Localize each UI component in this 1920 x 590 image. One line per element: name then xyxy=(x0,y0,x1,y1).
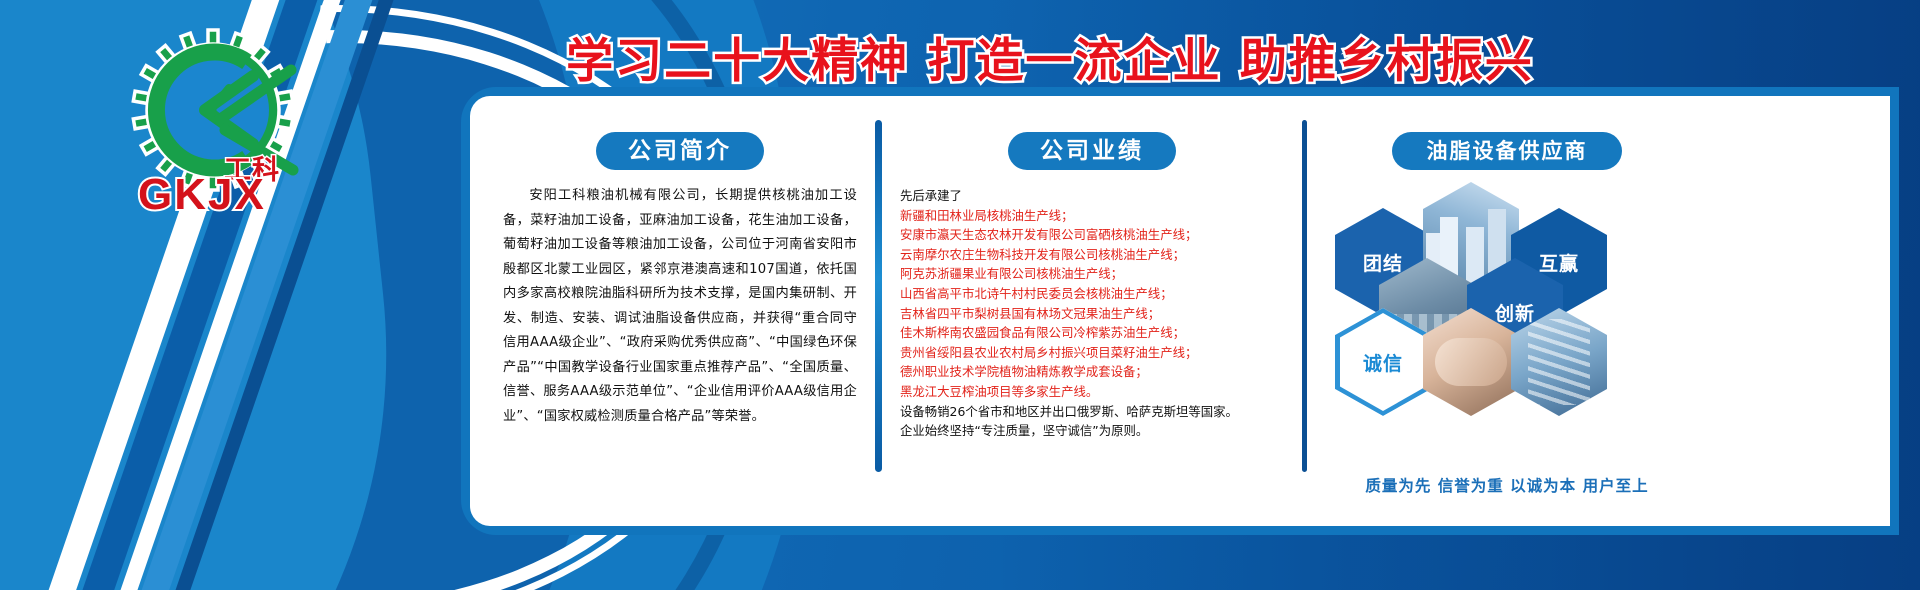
poster-canvas: 工科 GKJX 学习二十大精神 打造一流企业 助推乡村振兴 公司简介 安阳工科粮… xyxy=(0,0,1920,590)
project-item: 云南摩尔农庄生物科技开发有限公司核桃油生产线； xyxy=(900,245,1284,265)
project-item: 贵州省绥阳县农业农村局乡村振兴项目菜籽油生产线； xyxy=(900,343,1284,363)
panel-divider-1 xyxy=(875,120,882,472)
project-item: 吉林省四平市梨树县国有林场文冠果油生产线； xyxy=(900,304,1284,324)
panel-title-company-performance: 公司业绩 xyxy=(1008,132,1176,170)
project-item: 佳木斯桦南农盛园食品有限公司冷榨紫苏油生产线； xyxy=(900,323,1284,343)
project-item: 德州职业技术学院植物油精炼教学成套设备； xyxy=(900,362,1284,382)
hexagon-cluster: 团结 互赢 创新 诚信 xyxy=(1321,186,1693,436)
panel-supplier: 油脂设备供应商 团结 互赢 创新 诚信 质量为先 信誉为重 xyxy=(1307,112,1707,510)
hex-label: 互赢 xyxy=(1539,249,1579,276)
panel-title-company-profile: 公司简介 xyxy=(596,132,764,170)
hex-label: 诚信 xyxy=(1363,349,1403,376)
panel-row: 公司简介 安阳工科粮油机械有限公司，长期提供核桃油加工设备，菜籽油加工设备，亚麻… xyxy=(485,112,1880,510)
project-item: 新疆和田林业局核桃油生产线； xyxy=(900,206,1284,226)
logo-english-name: GKJX xyxy=(138,170,266,220)
project-item: 阿克苏浙疆果业有限公司核桃油生产线； xyxy=(900,264,1284,284)
company-profile-body: 安阳工科粮油机械有限公司，长期提供核桃油加工设备，菜籽油加工设备，亚麻油加工设备… xyxy=(499,184,861,429)
project-item: 安康市瀛天生态农林开发有限公司富硒核桃油生产线； xyxy=(900,225,1284,245)
project-item: 黑龙江大豆榨油项目等多家生产线。 xyxy=(900,382,1284,402)
supplier-slogan: 质量为先 信誉为重 以诚为本 用户至上 xyxy=(1307,474,1707,496)
performance-footer-line: 企业始终坚持“专注质量，坚守诚信”为原则。 xyxy=(900,421,1284,441)
hex-label: 团结 xyxy=(1363,249,1403,276)
performance-footer-line: 设备畅销26个省市和地区并出口俄罗斯、哈萨克斯坦等国家。 xyxy=(900,402,1284,422)
performance-lead: 先后承建了 xyxy=(900,186,1284,206)
project-item: 山西省高平市北诗午村村民委员会核桃油生产线； xyxy=(900,284,1284,304)
headline-slogan: 学习二十大精神 打造一流企业 助推乡村振兴 xyxy=(520,22,1580,91)
panel-company-performance: 公司业绩 先后承建了 新疆和田林业局核桃油生产线； 安康市瀛天生态农林开发有限公… xyxy=(882,112,1302,510)
hex-label: 创新 xyxy=(1495,299,1535,326)
company-performance-body: 先后承建了 新疆和田林业局核桃油生产线； 安康市瀛天生态农林开发有限公司富硒核桃… xyxy=(896,186,1288,441)
panel-title-supplier: 油脂设备供应商 xyxy=(1392,132,1622,170)
panel-company-profile: 公司简介 安阳工科粮油机械有限公司，长期提供核桃油加工设备，菜籽油加工设备，亚麻… xyxy=(485,112,875,510)
